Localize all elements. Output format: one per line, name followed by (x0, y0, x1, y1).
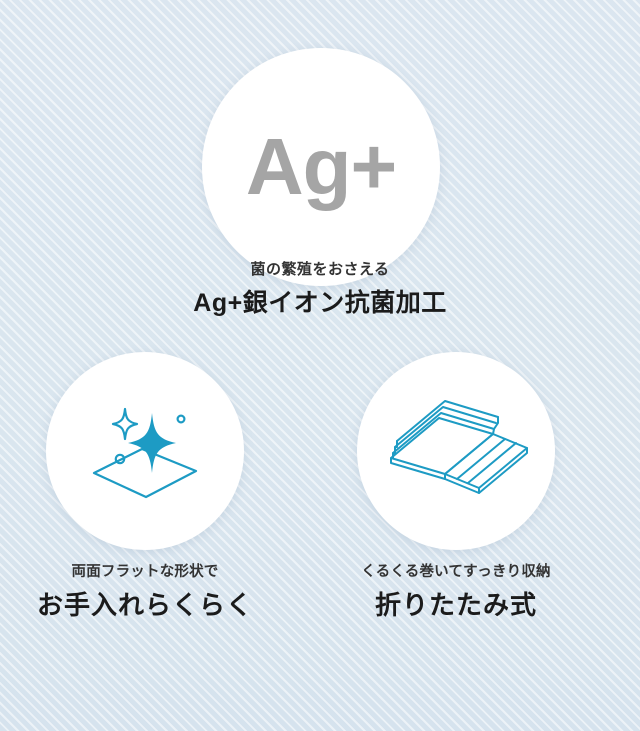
caption-main-flat-shape: お手入れらくらく (26, 585, 264, 622)
ag-plus-text-icon: Ag+ (246, 127, 396, 207)
caption-sub-flat-shape: 両面フラットな形状で (26, 560, 264, 581)
feature-badge-stage: Ag+ 菌の繁殖をおさえる Ag+銀イオン抗菌加工 両面フラットな形状で お手入… (0, 0, 640, 731)
caption-antibacterial: 菌の繁殖をおさえる Ag+銀イオン抗菌加工 (0, 258, 640, 319)
folded-mat-icon (381, 396, 531, 506)
feature-circle-flat-shape (46, 352, 244, 550)
caption-foldable: くるくる巻いてすっきり収納 折りたたみ式 (337, 560, 575, 622)
caption-flat-shape: 両面フラットな形状で お手入れらくらく (26, 560, 264, 622)
sparkle-flat-surface-icon (80, 391, 210, 511)
caption-sub-antibacterial: 菌の繁殖をおさえる (0, 258, 640, 279)
feature-circle-antibacterial: Ag+ (202, 48, 440, 286)
caption-main-foldable: 折りたたみ式 (337, 585, 575, 622)
feature-circle-foldable (357, 352, 555, 550)
caption-main-antibacterial: Ag+銀イオン抗菌加工 (0, 283, 640, 319)
caption-sub-foldable: くるくる巻いてすっきり収納 (337, 560, 575, 581)
